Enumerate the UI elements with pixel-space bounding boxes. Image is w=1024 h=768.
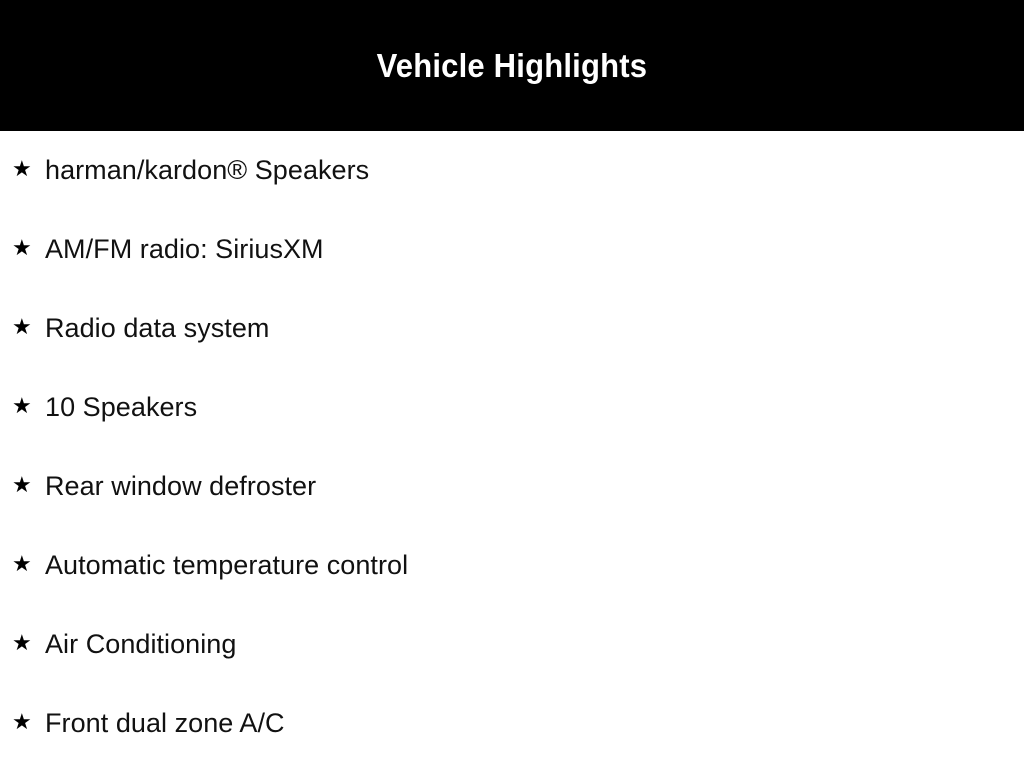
list-item-label: Front dual zone A/C <box>45 708 285 739</box>
star-icon: ★ <box>12 712 33 734</box>
list-item: ★ harman/kardon® Speakers <box>0 131 1024 210</box>
list-item: ★ Air Conditioning <box>0 605 1024 684</box>
page-header: Vehicle Highlights <box>0 0 1024 131</box>
list-item: ★ Radio data system <box>0 289 1024 368</box>
star-icon: ★ <box>12 554 33 576</box>
list-item-label: harman/kardon® Speakers <box>45 155 369 186</box>
page-title: Vehicle Highlights <box>377 49 648 82</box>
star-icon: ★ <box>12 317 33 339</box>
list-item-label: AM/FM radio: SiriusXM <box>45 234 324 265</box>
vehicle-highlights-page: Vehicle Highlights ★ harman/kardon® Spea… <box>0 0 1024 768</box>
list-item: ★ Rear window defroster <box>0 447 1024 526</box>
star-icon: ★ <box>12 396 33 418</box>
list-item: ★ AM/FM radio: SiriusXM <box>0 210 1024 289</box>
list-item: ★ Front dual zone A/C <box>0 684 1024 763</box>
list-item-label: Automatic temperature control <box>45 550 408 581</box>
list-item: ★ 10 Speakers <box>0 368 1024 447</box>
star-icon: ★ <box>12 159 33 181</box>
list-item-label: Air Conditioning <box>45 629 236 660</box>
star-icon: ★ <box>12 475 33 497</box>
list-item-label: Rear window defroster <box>45 471 316 502</box>
star-icon: ★ <box>12 633 33 655</box>
star-icon: ★ <box>12 238 33 260</box>
list-item-label: Radio data system <box>45 313 269 344</box>
list-item: ★ Automatic temperature control <box>0 526 1024 605</box>
list-item-label: 10 Speakers <box>45 392 197 423</box>
vehicle-highlights-list: ★ harman/kardon® Speakers ★ AM/FM radio:… <box>0 131 1024 763</box>
